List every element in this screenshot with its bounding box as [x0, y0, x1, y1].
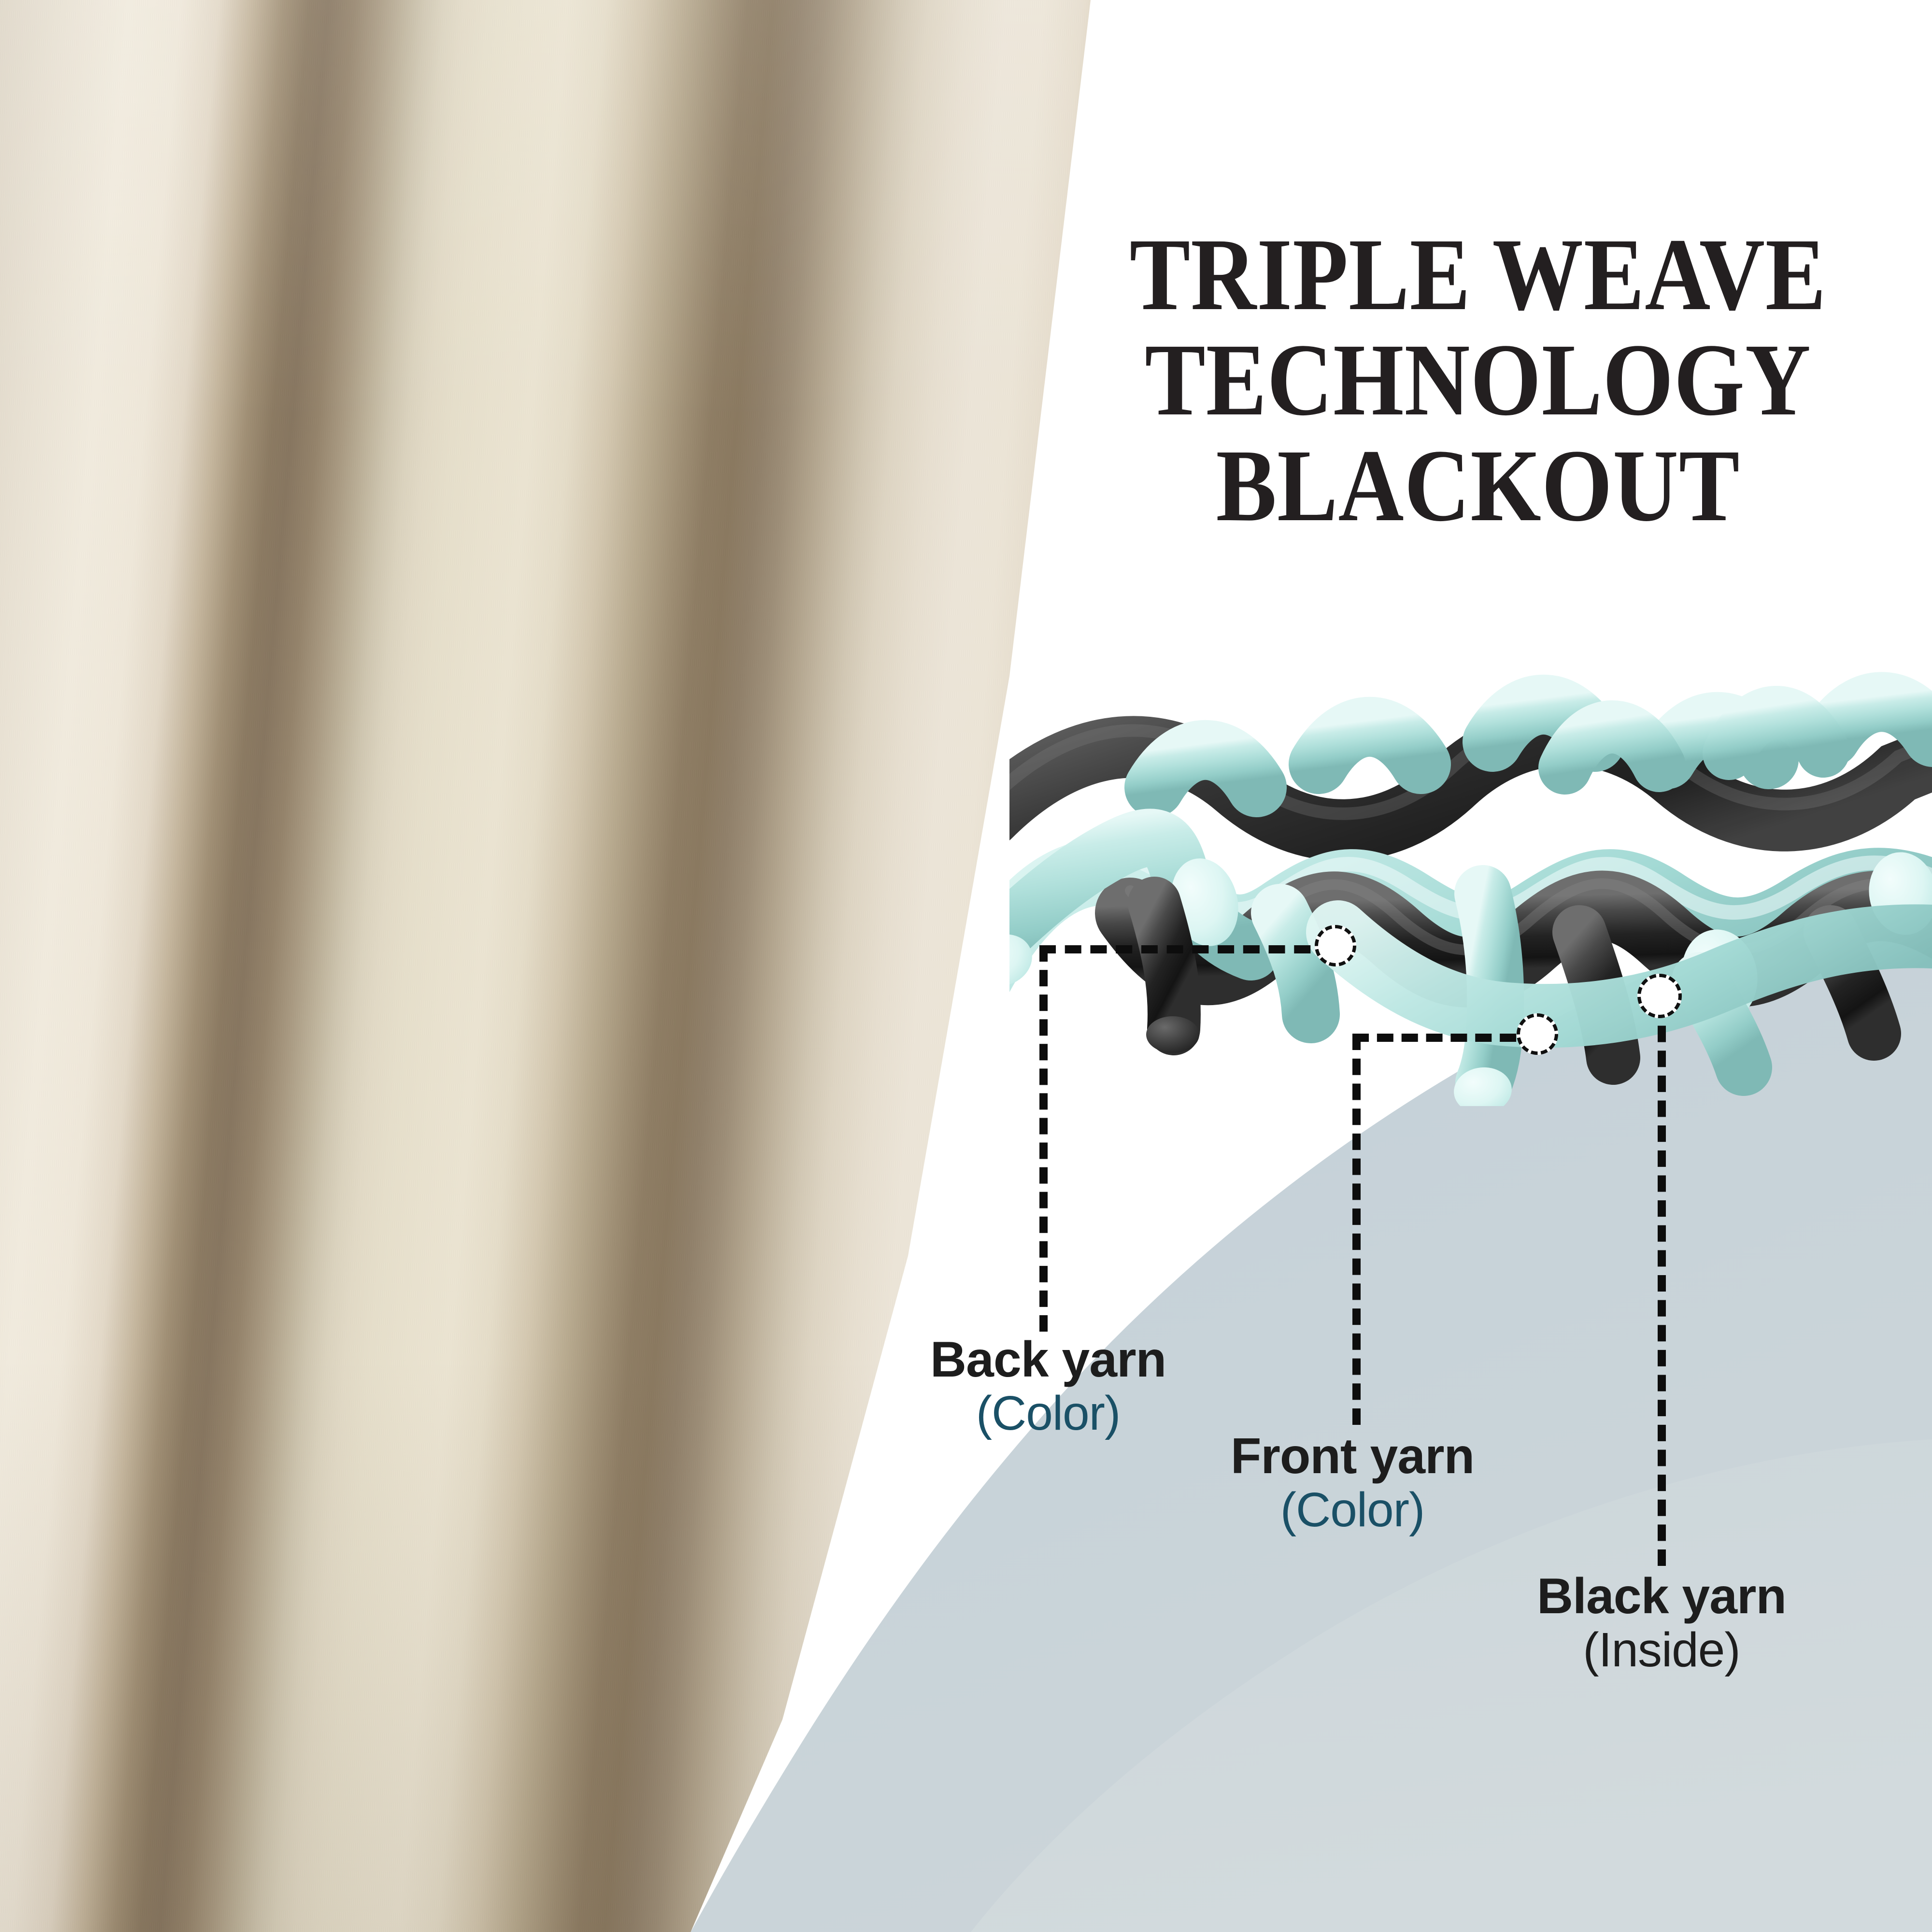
title-line-3: BLACKOUT: [1125, 433, 1831, 539]
title-line-1: TRIPLE WEAVE: [1125, 222, 1831, 327]
title-line-2: TECHNOLOGY: [1125, 327, 1831, 433]
callout-front-yarn: Front yarn (Color): [1207, 1430, 1497, 1537]
callout-back-yarn: Back yarn (Color): [903, 1333, 1193, 1440]
infographic-canvas: TRIPLE WEAVE TECHNOLOGY BLACKOUT: [0, 0, 1932, 1932]
leader-line-front-yarn-horizontal: [1352, 1034, 1541, 1042]
marker-back-yarn: [1315, 925, 1356, 966]
curtain-texture-grain: [0, 0, 1121, 1932]
callout-black-yarn: Black yarn (Inside): [1512, 1570, 1811, 1677]
marker-black-yarn: [1637, 974, 1682, 1018]
callout-black-yarn-label: Black yarn: [1512, 1570, 1811, 1623]
callout-black-yarn-sublabel: (Inside): [1512, 1623, 1811, 1677]
callout-back-yarn-label: Back yarn: [903, 1333, 1193, 1386]
curtain-product-photo: [0, 0, 1121, 1932]
page-title: TRIPLE WEAVE TECHNOLOGY BLACKOUT: [1125, 222, 1831, 539]
leader-line-back-yarn-horizontal: [1039, 945, 1336, 953]
leader-line-black-yarn-vertical: [1658, 1001, 1666, 1566]
leader-line-back-yarn-vertical: [1039, 945, 1048, 1332]
callout-back-yarn-sublabel: (Color): [903, 1386, 1193, 1440]
callout-front-yarn-sublabel: (Color): [1207, 1483, 1497, 1537]
leader-line-front-yarn-vertical: [1352, 1034, 1361, 1425]
marker-front-yarn: [1517, 1013, 1558, 1055]
callout-front-yarn-label: Front yarn: [1207, 1430, 1497, 1483]
